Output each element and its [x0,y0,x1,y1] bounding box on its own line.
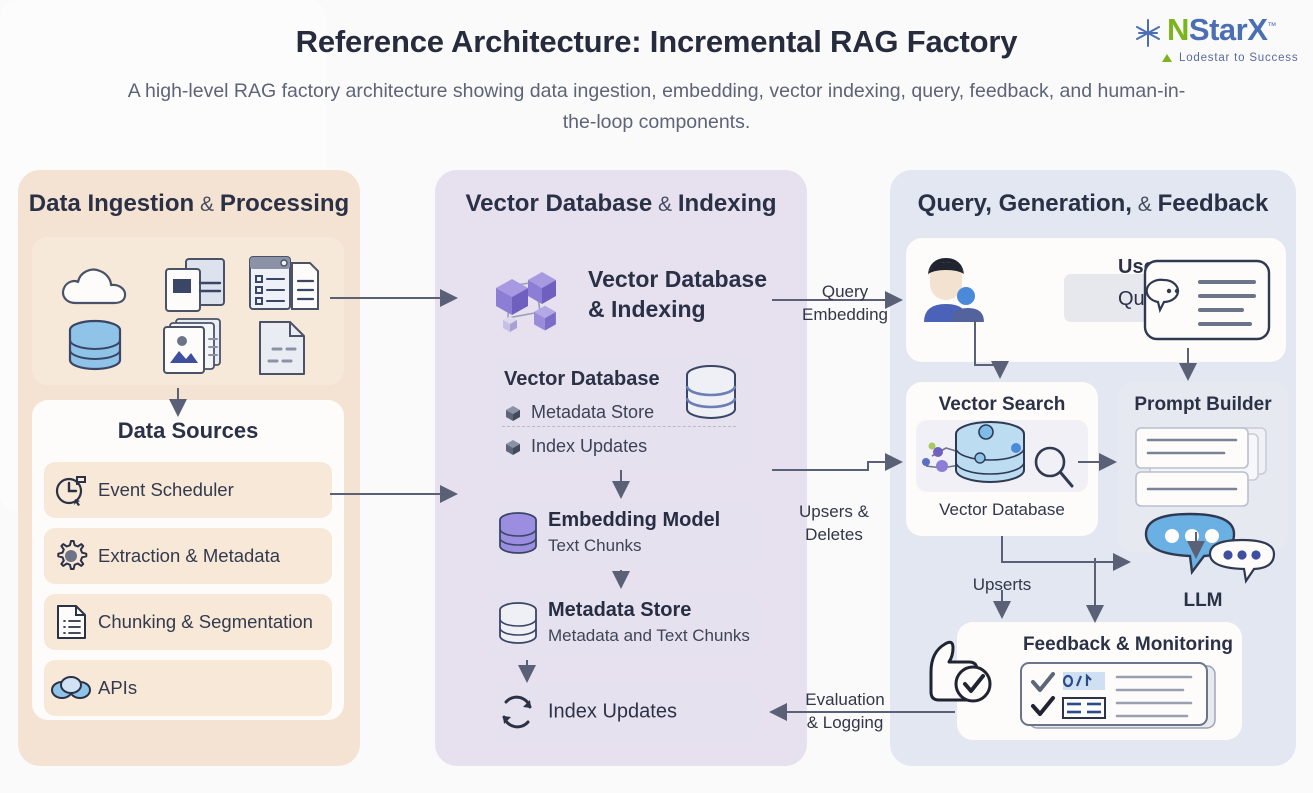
gear-icon [44,539,98,573]
source-icons-card [32,237,344,385]
panel-title-vector-bold: Vector Database [465,190,652,217]
llm-label: LLM [1118,590,1288,612]
trademark-symbol: ™ [1267,21,1276,31]
panel-title-vector-amp: & [652,193,678,216]
vector-search-card: Vector Search Vector Database [906,382,1098,536]
vdb-header-line2: & Indexing [588,294,767,324]
chat-bubbles-icon [1140,510,1282,594]
index-updates-title: Index Updates [548,701,677,724]
vdb-item-metadata-store[interactable]: Metadata Store [504,402,654,423]
cube-network-icon [478,260,574,346]
vector-database-card: Vector Database Metadata Store Index Upd… [482,356,756,468]
media-stack-icon [160,317,230,377]
panel-title-vector: Vector Database & Indexing [435,190,807,218]
logo-text-starx: StarX [1189,12,1267,47]
api-circles-icon [44,675,98,701]
connector-query-line2: Embedding [790,303,900,326]
refresh-cycle-icon [496,691,538,733]
connector-label-upserts-deletes: Upsers & Deletes [775,500,893,546]
embedding-model-title: Embedding Model [548,509,720,532]
panel-title-query-rest: Feedback [1158,190,1269,217]
user-query-card: User Query [906,238,1286,362]
user-avatar-icon [914,254,990,330]
vector-search-title: Vector Search [906,394,1098,416]
document-list-icon [44,604,98,640]
feedback-monitoring-card: Feedback & Monitoring [957,622,1242,740]
star-burst-icon [1133,18,1163,48]
data-source-label: Event Scheduler [98,479,234,501]
vdb-item-label: Index Updates [531,436,647,457]
chat-panel-icon [1142,258,1272,342]
connector-eval-line2: & Logging [780,711,910,734]
vector-search-subtitle: Vector Database [906,500,1098,520]
panel-title-ingestion-bold: Data Ingestion [29,190,194,217]
connector-upserts-internal: Upserts [952,573,1052,596]
gray-cylinder-icon [496,601,540,647]
page-subtitle: A high-level RAG factory architecture sh… [117,76,1197,138]
purple-cylinder-icon [496,511,540,557]
connector-query-line1: Query [790,280,900,303]
forms-icon [246,253,322,317]
prompt-builder-title: Prompt Builder [1118,394,1288,416]
metadata-store-subtitle: Metadata and Text Chunks [548,626,750,646]
logo-triangle-icon [1162,54,1172,62]
vector-search-icon [916,414,1088,496]
feedback-monitoring-title: Feedback & Monitoring [1017,634,1239,656]
panel-title-ingestion: Data Ingestion & Processing [18,190,360,218]
connector-label-query-embedding: Query Embedding [790,280,900,326]
cylinder-db-icon [680,364,742,422]
panel-title-ingestion-amp: & [194,193,220,216]
checklist-panel-icon [1019,662,1219,732]
panel-title-query-amp: & [1132,193,1158,216]
embedding-model-card[interactable]: Embedding Model Text Chunks [482,500,760,568]
data-source-label: APIs [98,677,137,699]
diagram-root: Reference Architecture: Incremental RAG … [0,0,1313,793]
data-source-item-chunking-segmentation[interactable]: Chunking & Segmentation [44,594,332,650]
nstarx-logo: NStarX™ Lodestar to Success [1129,16,1299,68]
data-sources-heading: Data Sources [32,418,344,444]
panel-title-query-bold: Query, Generation, [918,190,1132,217]
connector-upserts-line1: Upsers & [775,500,893,523]
connector-eval-line1: Evaluation [780,688,910,711]
cloud-icon [58,261,130,311]
file-icon [254,319,312,377]
document-stack-icon [1132,426,1274,516]
page-title: Reference Architecture: Incremental RAG … [0,24,1313,60]
connector-label-evaluation-logging: Evaluation & Logging [780,688,910,734]
data-source-item-apis[interactable]: APIs [44,660,332,716]
data-source-item-event-scheduler[interactable]: Event Scheduler [44,462,332,518]
vdb-item-label: Metadata Store [531,402,654,423]
connector-label-upserts: Upserts [952,573,1052,596]
documents-icon [160,255,230,317]
panel-title-query: Query, Generation, & Feedback [890,190,1296,218]
data-sources-card: Data Sources Event Scheduler E [32,400,344,720]
data-source-item-extraction-metadata[interactable]: Extraction & Metadata [44,528,332,584]
vector-database-card-title: Vector Database [504,368,660,391]
vdb-item-index-updates[interactable]: Index Updates [504,436,647,457]
data-source-label: Chunking & Segmentation [98,611,313,633]
logo-letter-n: N [1167,12,1189,47]
metadata-store-title: Metadata Store [548,599,691,622]
data-source-label: Extraction & Metadata [98,545,280,567]
vdb-divider [502,426,736,427]
logo-tagline: Lodestar to Success [1179,52,1298,64]
logo-wordmark: NStarX™ [1167,12,1276,48]
panel-title-vector-rest: Indexing [678,190,777,217]
embedding-model-subtitle: Text Chunks [548,536,642,556]
panel-title-ingestion-rest: Processing [220,190,349,217]
connector-upserts-line2: Deletes [775,523,893,546]
vector-database-header-text: Vector Database & Indexing [588,264,767,324]
metadata-store-card[interactable]: Metadata Store Metadata and Text Chunks [482,590,760,658]
clock-schedule-icon [44,473,98,507]
cube-bullet-icon [504,439,522,455]
cube-bullet-icon [504,405,522,421]
thumbs-up-check-icon [911,632,1003,716]
index-updates-card[interactable]: Index Updates [482,684,760,740]
vdb-header-line1: Vector Database [588,264,767,294]
database-icon [64,319,126,375]
vector-database-header: Vector Database & Indexing [478,252,770,348]
